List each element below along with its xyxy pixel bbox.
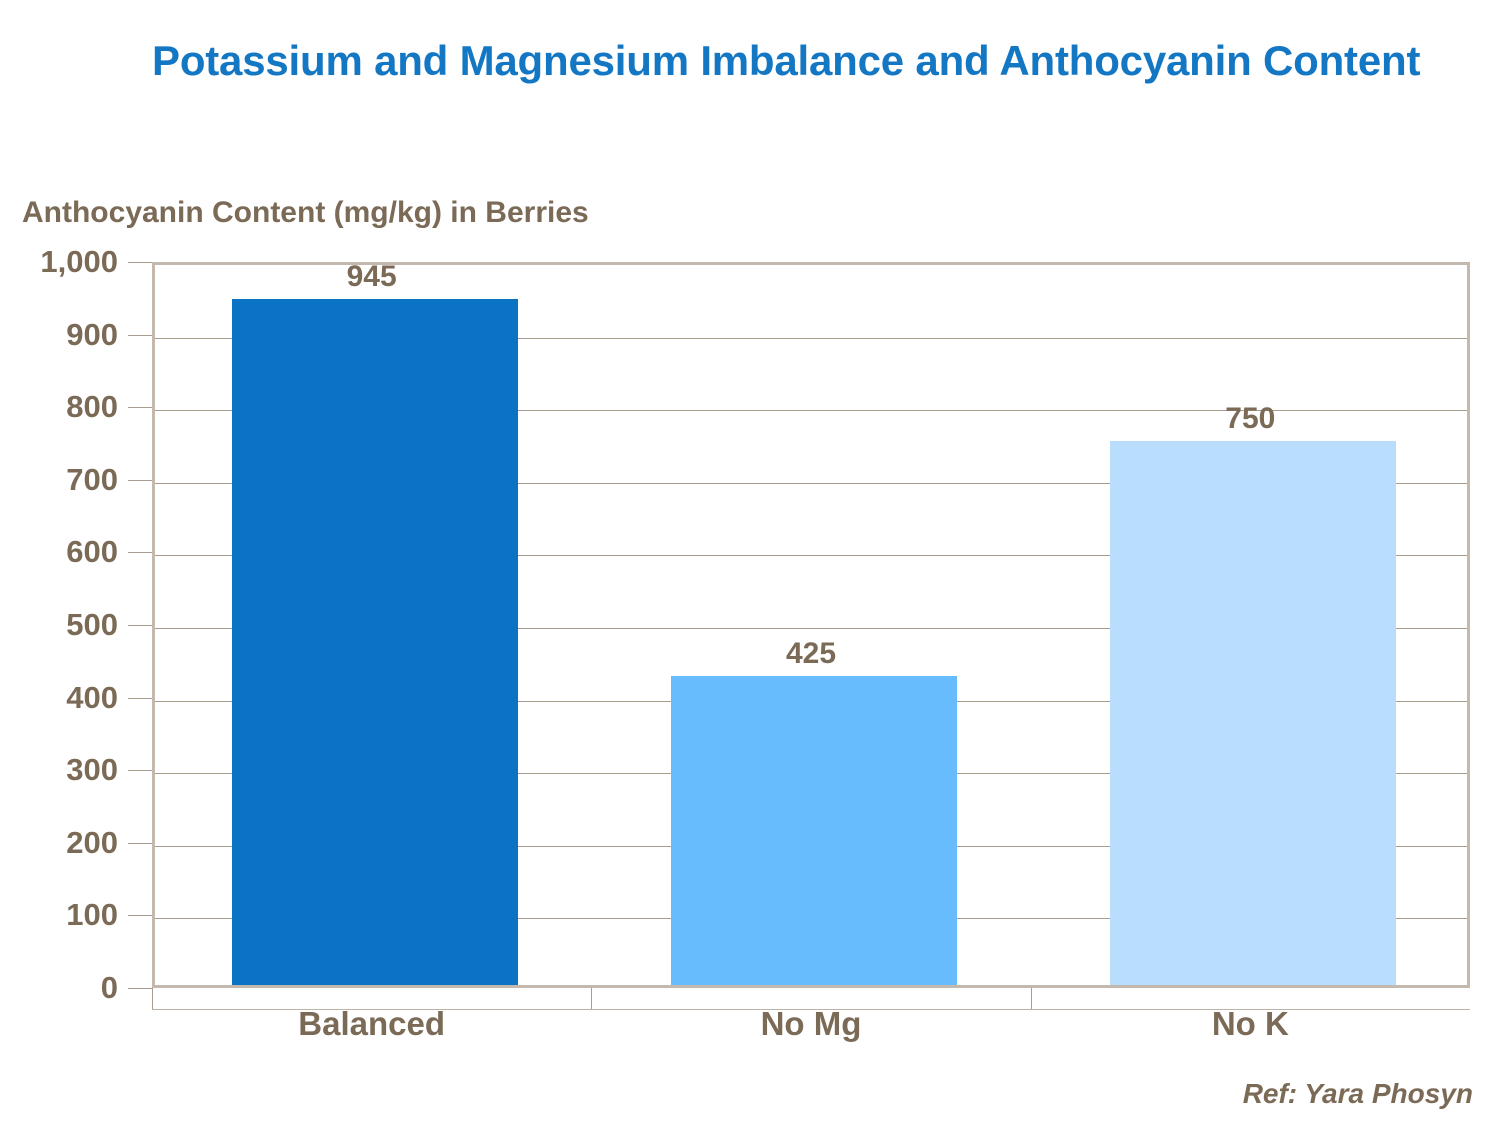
bar-balanced[interactable]	[232, 299, 518, 985]
y-tick-label: 400	[0, 680, 118, 716]
y-tick-mark	[128, 770, 152, 771]
x-axis-underline	[152, 1009, 1470, 1010]
x-category-label-no-mg: No Mg	[591, 1005, 1030, 1043]
y-tick-label: 300	[0, 752, 118, 788]
y-tick-mark	[128, 843, 152, 844]
y-tick-label: 1,000	[0, 244, 118, 280]
y-tick-label: 900	[0, 317, 118, 353]
y-tick-mark	[128, 988, 152, 989]
y-tick-label: 0	[0, 970, 118, 1006]
y-tick-mark	[128, 915, 152, 916]
reference-note: Ref: Yara Phosyn	[1243, 1078, 1473, 1110]
y-tick-label: 600	[0, 534, 118, 570]
y-tick-label: 500	[0, 607, 118, 643]
bar-value-label: 750	[1107, 402, 1393, 436]
plot-area	[152, 262, 1470, 988]
y-tick-label: 200	[0, 825, 118, 861]
y-tick-mark	[128, 698, 152, 699]
y-tick-mark	[128, 625, 152, 626]
y-tick-mark	[128, 407, 152, 408]
y-tick-label: 100	[0, 897, 118, 933]
y-tick-mark	[128, 335, 152, 336]
y-tick-mark	[128, 262, 152, 263]
x-category-separator	[591, 988, 592, 1010]
y-tick-mark	[128, 480, 152, 481]
bar-no-mg[interactable]	[671, 676, 957, 985]
x-category-label-no-k: No K	[1031, 1005, 1470, 1043]
chart-title: Potassium and Magnesium Imbalance and An…	[152, 36, 1472, 86]
x-axis-start-tick	[152, 988, 153, 1010]
bar-value-label: 425	[668, 637, 954, 671]
y-tick-label: 700	[0, 462, 118, 498]
x-category-label-balanced: Balanced	[152, 1005, 591, 1043]
bar-value-label: 945	[229, 260, 515, 294]
y-tick-mark	[128, 552, 152, 553]
x-category-separator	[1031, 988, 1032, 1010]
y-tick-label: 800	[0, 389, 118, 425]
bar-no-k[interactable]	[1110, 441, 1396, 986]
y-axis-title: Anthocyanin Content (mg/kg) in Berries	[22, 196, 589, 230]
